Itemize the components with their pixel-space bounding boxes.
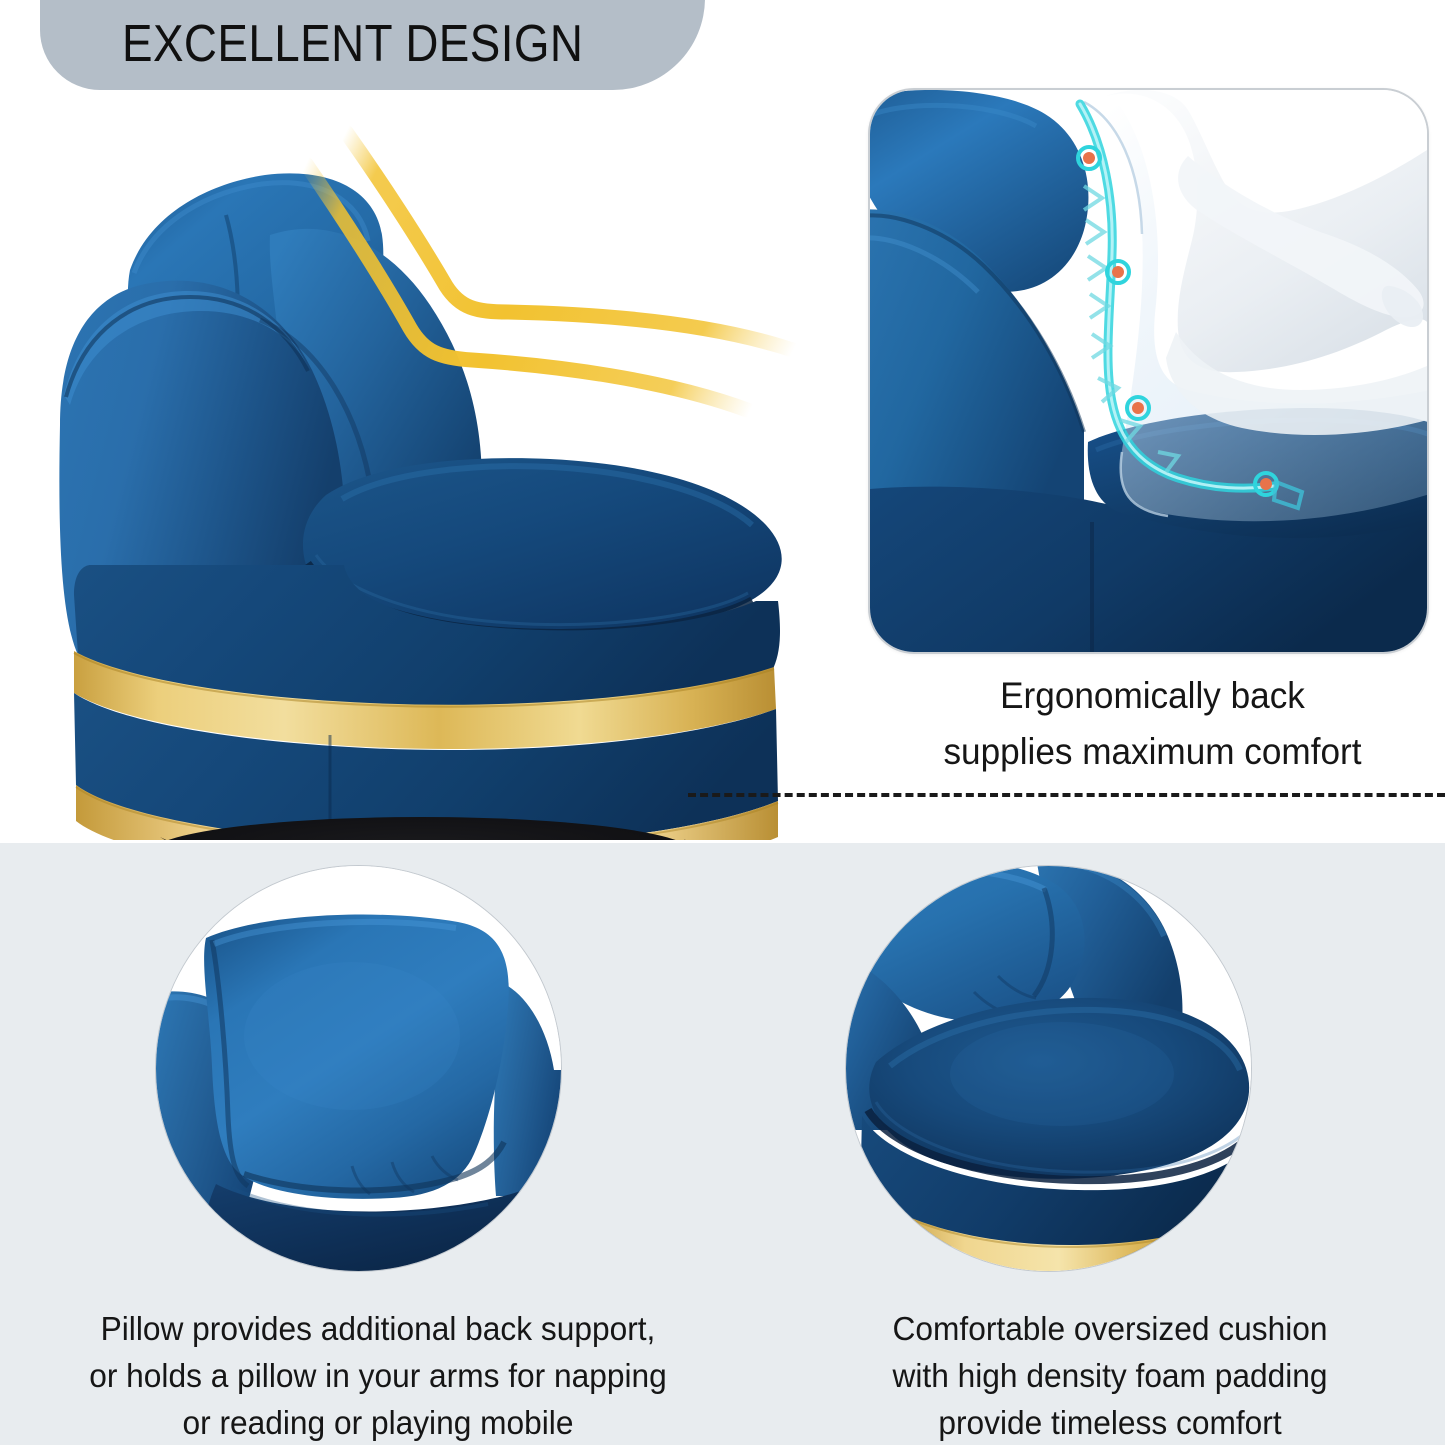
- ergonomic-caption-line-1: Ergonomically back: [894, 668, 1412, 724]
- top-section: EXCELLENT DESIGN: [0, 0, 1445, 843]
- cushion-caption-line-2: with high density foam padding: [812, 1353, 1407, 1400]
- cushion-caption: Comfortable oversized cushion with high …: [800, 1306, 1420, 1445]
- ergonomic-caption-line-2: supplies maximum comfort: [894, 724, 1412, 780]
- main-product-image: [30, 95, 820, 840]
- pillow-caption: Pillow provides additional back support,…: [58, 1306, 698, 1445]
- pillow-caption-line-3: or reading or playing mobile: [71, 1400, 685, 1445]
- bottom-section: Pillow provides additional back support,…: [0, 843, 1445, 1445]
- page-title: EXCELLENT DESIGN: [122, 14, 583, 74]
- cushion-caption-line-1: Comfortable oversized cushion: [812, 1306, 1407, 1353]
- header-ribbon: EXCELLENT DESIGN: [40, 0, 705, 90]
- ergonomic-caption: Ergonomically back supplies maximum comf…: [880, 668, 1425, 780]
- infographic-page: EXCELLENT DESIGN: [0, 0, 1445, 1445]
- cushion-caption-line-3: provide timeless comfort: [812, 1400, 1407, 1445]
- dashed-divider: [688, 793, 1445, 797]
- cushion-detail-image: [845, 865, 1252, 1272]
- ergonomic-detail-panel: [868, 88, 1429, 654]
- pillow-caption-line-1: Pillow provides additional back support,: [71, 1306, 685, 1353]
- pillow-caption-line-2: or holds a pillow in your arms for nappi…: [71, 1353, 685, 1400]
- pillow-detail-image: [155, 865, 562, 1272]
